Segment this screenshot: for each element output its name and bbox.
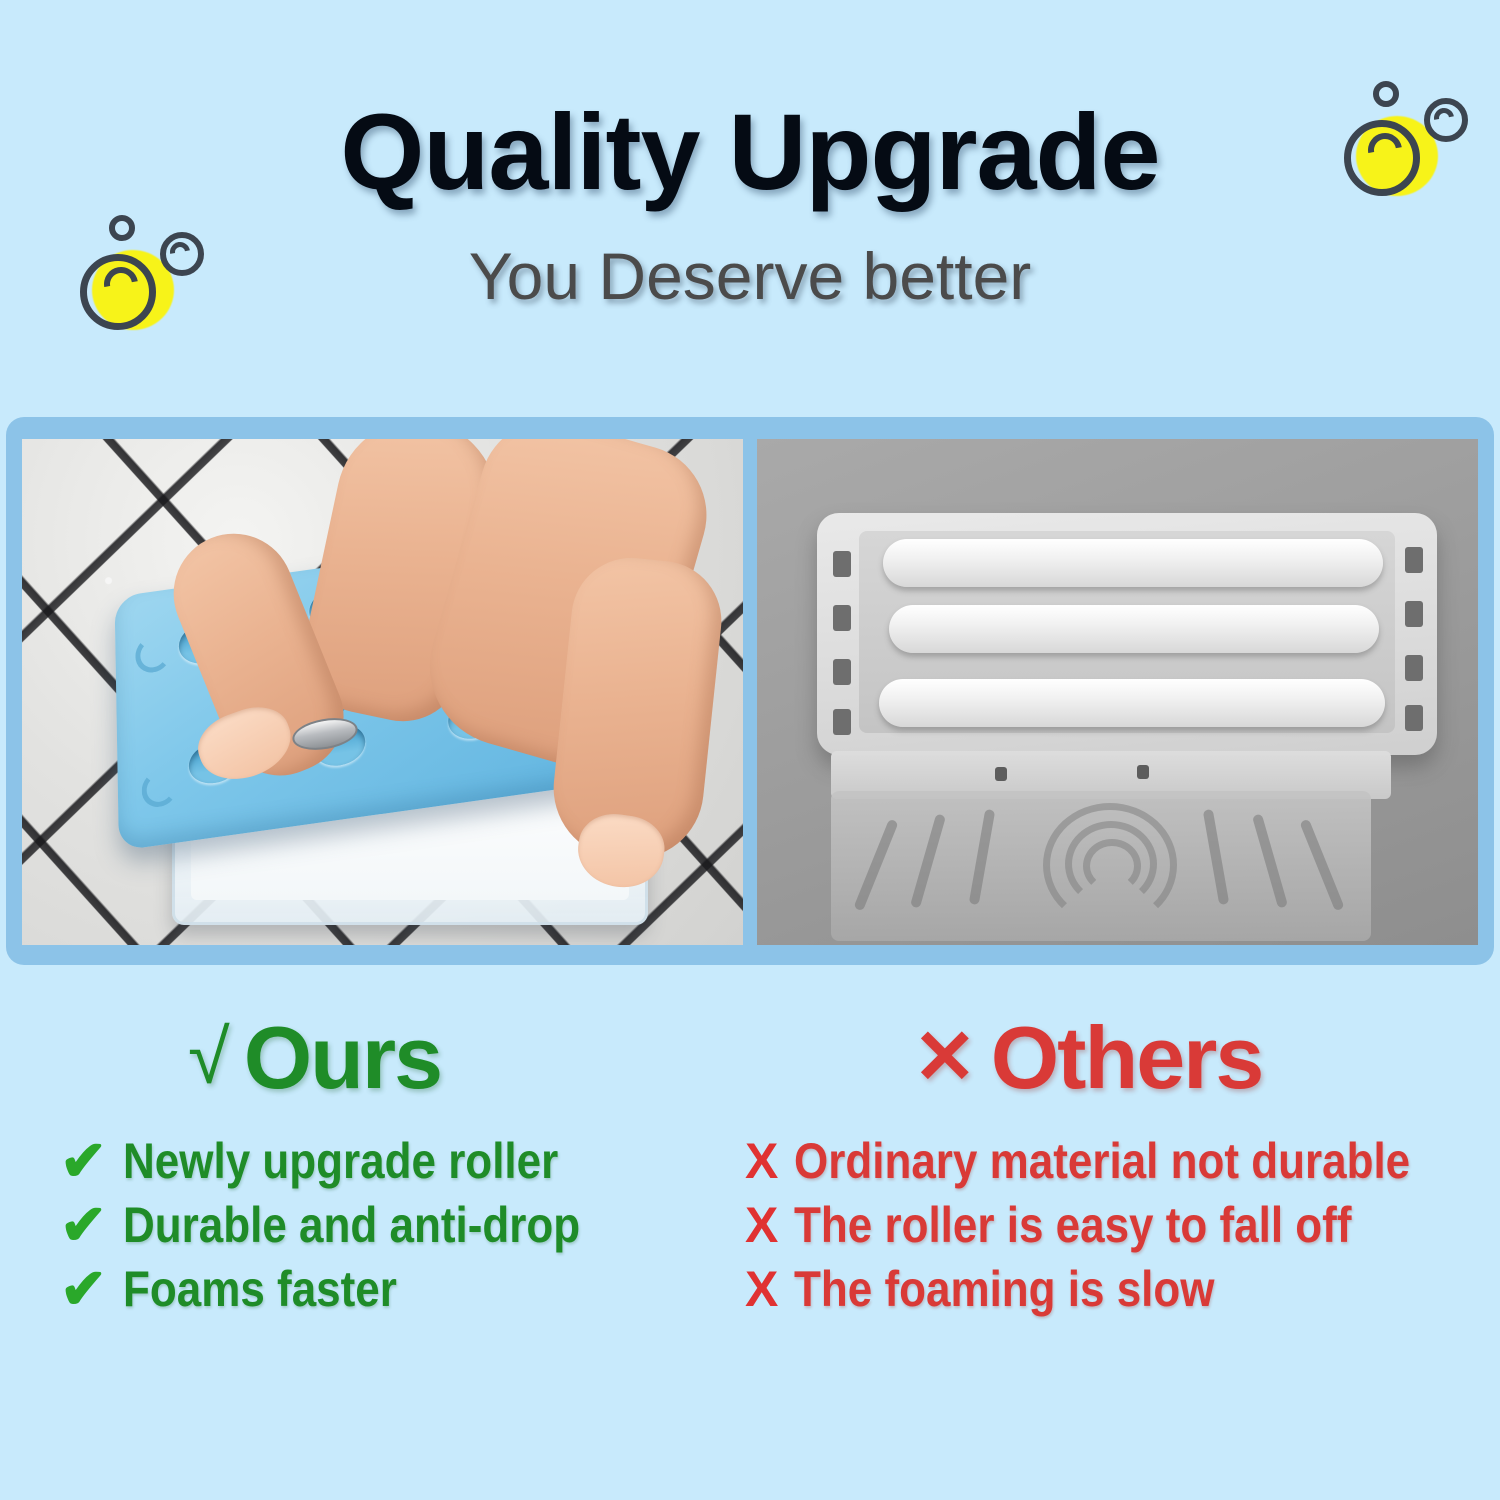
vent-slot xyxy=(833,659,851,685)
lip-notch xyxy=(995,767,1007,781)
tray-swirl xyxy=(1083,839,1141,893)
list-item: X The roller is easy to fall off xyxy=(745,1196,1485,1254)
list-item-label: Ordinary material not durable xyxy=(794,1132,1410,1190)
list-item: ✔ Newly upgrade roller xyxy=(60,1132,700,1190)
tray-rib xyxy=(853,819,898,912)
roller-bar xyxy=(883,539,1383,587)
others-drawback-list: X Ordinary material not durable X The ro… xyxy=(745,1132,1485,1318)
check-icon: ✔ xyxy=(60,1196,107,1254)
tray-rib xyxy=(969,809,996,905)
list-item-label: The roller is easy to fall off xyxy=(794,1196,1351,1254)
vent-slot xyxy=(1405,547,1423,573)
check-icon: √ xyxy=(188,1020,228,1096)
comparison-section: √ Ours ✔ Newly upgrade roller ✔ Durable … xyxy=(0,1010,1500,1340)
list-item: ✔ Durable and anti-drop xyxy=(60,1196,700,1254)
cross-icon: X xyxy=(745,1196,778,1254)
bubble-decoration-left xyxy=(62,212,232,332)
others-heading: ✕ Others xyxy=(745,1010,1485,1106)
cross-icon: X xyxy=(745,1132,778,1190)
list-item-label: The foaming is slow xyxy=(794,1260,1215,1318)
lid-corner-mark xyxy=(141,768,177,809)
list-item: X Ordinary material not durable xyxy=(745,1132,1485,1190)
others-heading-label: Others xyxy=(991,1010,1263,1106)
comparison-column-others: ✕ Others X Ordinary material not durable… xyxy=(745,1010,1485,1334)
vent-slot xyxy=(1405,705,1423,731)
ours-heading: √ Ours xyxy=(60,1010,700,1106)
tray-rib xyxy=(1252,813,1288,908)
list-item: ✔ Foams faster xyxy=(60,1260,700,1318)
cross-icon: ✕ xyxy=(913,1020,975,1096)
product-photo-others xyxy=(757,439,1478,945)
check-icon: ✔ xyxy=(60,1132,107,1190)
tray-rib xyxy=(1299,819,1344,912)
tray-rib xyxy=(910,813,946,908)
roller-box-top xyxy=(817,513,1437,755)
list-item-label: Durable and anti-drop xyxy=(123,1196,580,1254)
lip-notch xyxy=(1137,765,1149,779)
bubble-small-icon xyxy=(109,215,135,241)
lid-corner-mark xyxy=(135,634,171,675)
list-item: X The foaming is slow xyxy=(745,1260,1485,1318)
check-icon: ✔ xyxy=(60,1260,107,1318)
product-photo-ours xyxy=(22,439,743,945)
vent-slot xyxy=(833,551,851,577)
roller-bar xyxy=(889,605,1379,653)
roller-bar xyxy=(879,679,1385,727)
product-photo-panel xyxy=(6,417,1494,965)
ours-benefit-list: ✔ Newly upgrade roller ✔ Durable and ant… xyxy=(60,1132,700,1318)
header-banner: Quality Upgrade You Deserve better xyxy=(0,0,1500,400)
drain-tray xyxy=(831,791,1371,941)
bubble-small-icon xyxy=(1373,81,1399,107)
vent-slot xyxy=(833,709,851,735)
comparison-column-ours: √ Ours ✔ Newly upgrade roller ✔ Durable … xyxy=(60,1010,700,1334)
vent-slot xyxy=(833,605,851,631)
list-item-label: Foams faster xyxy=(123,1260,397,1318)
page-title: Quality Upgrade xyxy=(0,96,1500,208)
bubble-decoration-right xyxy=(1326,78,1496,198)
list-item-label: Newly upgrade roller xyxy=(123,1132,558,1190)
vent-slot xyxy=(1405,601,1423,627)
cross-icon: X xyxy=(745,1260,778,1318)
tray-rib xyxy=(1203,809,1230,905)
vent-slot xyxy=(1405,655,1423,681)
ours-heading-label: Ours xyxy=(244,1010,441,1106)
